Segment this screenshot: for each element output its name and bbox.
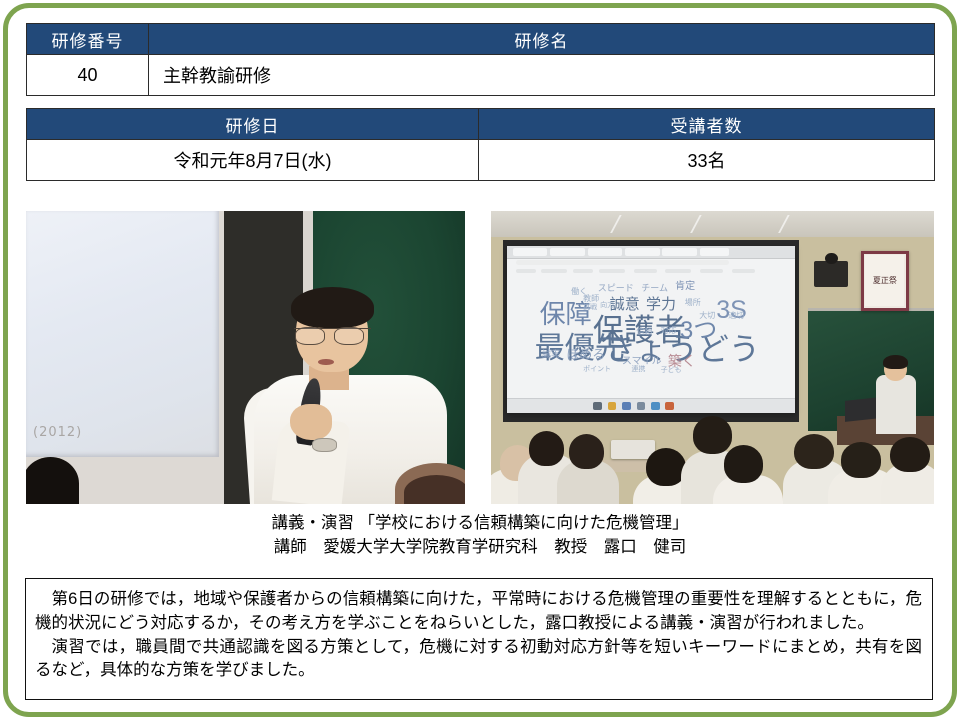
photo-right-calligraphy-frame: 夏正祭 xyxy=(861,251,909,311)
word-cloud-term: チーム xyxy=(641,284,668,293)
header-cell-training-number: 研修番号 xyxy=(27,24,149,55)
photo-left-audience-head-1 xyxy=(26,457,79,504)
photo-lecturer: (2012) xyxy=(26,211,465,504)
photo-left-lecturer-glasses-right xyxy=(334,327,364,345)
training-report-page: 研修番号 研修名 40 主幹教諭研修 研修日 受講者数 令和元年8月7日(水) … xyxy=(0,0,960,720)
description-paragraph-1: 第6日の研修では，地域や保護者からの信頼構築に向けた，平常時における危機管理の重… xyxy=(35,588,922,636)
photo-left-screen-edge xyxy=(26,211,219,457)
photo-left-lecturer-glasses-left xyxy=(295,327,325,345)
photo-right-ceiling xyxy=(491,211,934,237)
table-row-values-2: 令和元年8月7日(水) 33名 xyxy=(27,140,935,181)
photo-left-audience-hair-2 xyxy=(404,475,465,504)
bookmark-6 xyxy=(665,269,691,273)
taskbar-icon-4 xyxy=(637,402,646,411)
word-cloud-term: 向力 xyxy=(600,302,614,309)
word-cloud-term: ほめる xyxy=(566,348,605,361)
browser-url-bar xyxy=(516,260,729,265)
word-cloud-term: 教師 xyxy=(583,295,599,303)
taskbar-icon-5 xyxy=(651,402,660,411)
bookmark-5 xyxy=(634,269,657,273)
word-cloud-term: 対応 xyxy=(661,327,677,335)
audience-head-6 xyxy=(724,445,764,483)
word-cloud-term: ポイント xyxy=(583,366,611,373)
taskbar-icon-6 xyxy=(665,402,674,411)
browser-tab-3 xyxy=(588,248,623,255)
description-paragraph-2: 演習では，職員間で共通認識を図る方策として，危機に対する初動対応方針等を短いキー… xyxy=(35,636,922,684)
audience-head-5 xyxy=(693,416,733,454)
photo-right-presenter-body xyxy=(876,375,916,434)
word-cloud-term: 学力 xyxy=(646,297,676,312)
value-cell-training-name: 主幹教諭研修 xyxy=(149,55,935,96)
word-cloud-term: 誠実 xyxy=(542,350,560,359)
caption-line-1: 講義・演習 「学校における信頼構築に向けた危機管理」 xyxy=(26,512,934,536)
audience-head-7 xyxy=(794,434,834,469)
word-cloud-term: 挑戦 xyxy=(583,304,597,311)
photo-classroom: 夏正祭 保障保護者最優先きょうどう3S3つ誠意学力ほめる築くスマイルスピードチー… xyxy=(491,211,934,504)
table-row-header-2: 研修日 受講者数 xyxy=(27,109,935,140)
photo-right-presenter-hair xyxy=(883,355,909,370)
training-info-table: 研修番号 研修名 40 主幹教諭研修 xyxy=(26,23,935,96)
description-box: 第6日の研修では，地域や保護者からの信頼構築に向けた，平常時における危機管理の重… xyxy=(25,578,933,700)
taskbar-icon-3 xyxy=(622,402,631,411)
word-cloud-term: 連携 xyxy=(632,366,646,373)
word-cloud-term: 子ども xyxy=(661,367,682,374)
photo-left-wristwatch xyxy=(312,438,337,452)
training-date-table: 研修日 受講者数 令和元年8月7日(水) 33名 xyxy=(26,108,935,181)
word-cloud-term: 肯定 xyxy=(675,282,695,292)
word-cloud: 保障保護者最優先きょうどう3S3つ誠意学力ほめる築くスマイルスピードチーム肯定働… xyxy=(530,278,772,382)
table-row-values-1: 40 主幹教諭研修 xyxy=(27,55,935,96)
audience-head-2 xyxy=(529,431,564,466)
word-cloud-term: 場所 xyxy=(685,299,701,307)
photo-left-lecturer-hand xyxy=(290,404,332,439)
bookmark-1 xyxy=(516,269,536,273)
taskbar-icon-1 xyxy=(593,402,602,411)
table-row-header-1: 研修番号 研修名 xyxy=(27,24,935,55)
photo-right-speaker-knob xyxy=(825,253,838,265)
audience-head-9 xyxy=(890,437,930,472)
word-cloud-term: 適切 xyxy=(728,312,744,320)
audience-head-3 xyxy=(569,434,604,469)
bookmark-2 xyxy=(541,269,567,273)
browser-tab-5 xyxy=(662,248,697,255)
photo-left-lecturer-hair xyxy=(291,287,374,328)
photo-left-slide-text: (2012) xyxy=(33,425,82,440)
browser-tab-1 xyxy=(513,248,548,255)
photo-right-wall-speaker xyxy=(814,261,847,287)
word-cloud-term: 3つ xyxy=(680,319,717,343)
value-cell-training-date: 令和元年8月7日(水) xyxy=(27,140,479,181)
word-cloud-term: スピード xyxy=(598,284,634,293)
photo-right-calligraphy-text: 夏正祭 xyxy=(865,255,904,306)
browser-tab-2 xyxy=(550,248,585,255)
word-cloud-term: 信頼 xyxy=(636,328,652,336)
photo-caption: 講義・演習 「学校における信頼構築に向けた危機管理」 講師 愛媛大学大学院教育学… xyxy=(26,512,934,560)
bookmark-8 xyxy=(732,269,755,273)
photo-right-projection-screen: 保障保護者最優先きょうどう3S3つ誠意学力ほめる築くスマイルスピードチーム肯定働… xyxy=(507,246,795,413)
header-cell-training-date: 研修日 xyxy=(27,109,479,140)
audience-head-4 xyxy=(646,448,686,486)
audience-head-8 xyxy=(841,442,881,477)
browser-tab-6 xyxy=(700,248,729,255)
value-cell-attendee-count: 33名 xyxy=(479,140,935,181)
caption-line-2: 講師 愛媛大学大学院教育学研究科 教授 露口 健司 xyxy=(26,536,934,560)
header-cell-training-name: 研修名 xyxy=(149,24,935,55)
word-cloud-term: 大切 xyxy=(699,312,715,320)
taskbar-icon-2 xyxy=(608,402,617,411)
browser-tab-4 xyxy=(625,248,660,255)
word-cloud-term: 誠意 xyxy=(610,297,640,312)
value-cell-training-number: 40 xyxy=(27,55,149,96)
bookmark-3 xyxy=(573,269,593,273)
header-cell-attendee-count: 受講者数 xyxy=(479,109,935,140)
bookmark-7 xyxy=(700,269,723,273)
bookmark-4 xyxy=(599,269,625,273)
